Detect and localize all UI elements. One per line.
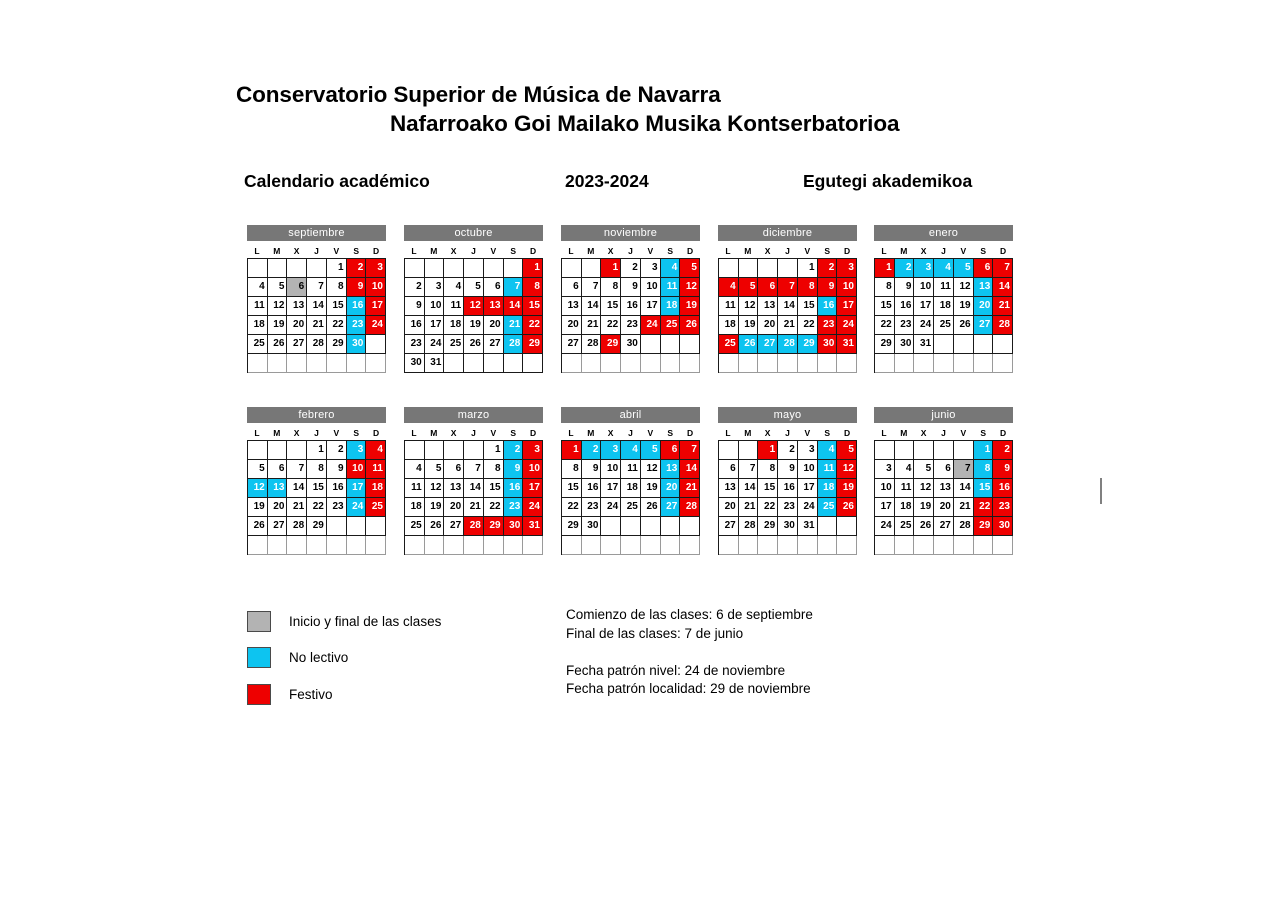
day-cell: 15	[484, 479, 504, 498]
day-cell: 1	[974, 441, 994, 460]
day-cell: 21	[954, 498, 974, 517]
day-cell: 10	[914, 278, 934, 297]
day-cell: 10	[347, 460, 367, 479]
weekday-label-M: M	[738, 426, 758, 440]
weekday-header-row: LMXJVSD	[718, 426, 857, 440]
empty-cell	[895, 536, 915, 555]
day-cell: 21	[739, 498, 759, 517]
empty-cell	[778, 354, 798, 373]
day-cell: 22	[798, 316, 818, 335]
empty-cell	[641, 354, 661, 373]
day-cell: 25	[934, 316, 954, 335]
day-cell: 20	[974, 297, 994, 316]
legend: Inicio y final de las clasesNo lectivoFe…	[247, 603, 577, 713]
day-cell: 30	[778, 517, 798, 536]
day-cell: 2	[504, 441, 524, 460]
empty-cell	[601, 354, 621, 373]
day-cell: 10	[798, 460, 818, 479]
weekday-label-J: J	[621, 426, 641, 440]
day-cell: 11	[661, 278, 681, 297]
empty-cell	[641, 517, 661, 536]
weekday-header-row: LMXJVSD	[404, 426, 543, 440]
day-cell: 1	[523, 259, 543, 278]
weekday-label-V: V	[797, 426, 817, 440]
day-cell: 8	[974, 460, 994, 479]
weekday-label-M: M	[581, 244, 601, 258]
day-cell: 21	[504, 316, 524, 335]
empty-cell	[621, 517, 641, 536]
legend-label-non_teaching: No lectivo	[289, 650, 348, 665]
empty-cell	[739, 259, 759, 278]
day-cell: 8	[875, 278, 895, 297]
day-cell: 22	[974, 498, 994, 517]
weekday-label-M: M	[738, 244, 758, 258]
empty-cell	[366, 335, 386, 354]
day-cell: 25	[895, 517, 915, 536]
empty-cell	[327, 517, 347, 536]
empty-cell	[758, 259, 778, 278]
month-calendar-septiembre: septiembreLMXJVSD12345678910111213141516…	[247, 225, 386, 373]
day-cell: 9	[778, 460, 798, 479]
day-cell: 24	[837, 316, 857, 335]
day-cell: 16	[993, 479, 1013, 498]
day-cell: 11	[621, 460, 641, 479]
day-cell: 3	[641, 259, 661, 278]
weekday-label-J: J	[464, 244, 484, 258]
day-cell: 11	[405, 479, 425, 498]
weekday-label-S: S	[817, 426, 837, 440]
empty-cell	[405, 259, 425, 278]
day-cell: 13	[287, 297, 307, 316]
day-cell: 19	[914, 498, 934, 517]
day-cell: 21	[680, 479, 700, 498]
day-cell: 8	[327, 278, 347, 297]
day-cell: 25	[719, 335, 739, 354]
day-cell: 24	[523, 498, 543, 517]
day-cell: 25	[621, 498, 641, 517]
day-cell: 28	[993, 316, 1013, 335]
note-patron-level: Fecha patrón nivel: 24 de noviembre	[566, 662, 986, 681]
day-cell: 3	[798, 441, 818, 460]
day-cell: 12	[641, 460, 661, 479]
day-cell: 14	[464, 479, 484, 498]
day-cell: 18	[895, 498, 915, 517]
day-cell: 26	[837, 498, 857, 517]
empty-cell	[484, 259, 504, 278]
day-cell: 13	[268, 479, 288, 498]
day-grid-febrero: 1234567891011121314151617181920212223242…	[247, 440, 386, 555]
day-cell: 6	[444, 460, 464, 479]
weekday-label-D: D	[993, 426, 1013, 440]
empty-cell	[582, 354, 602, 373]
day-cell: 26	[739, 335, 759, 354]
day-cell: 17	[523, 479, 543, 498]
month-calendar-abril: abrilLMXJVSD1234567891011121314151617181…	[561, 407, 700, 555]
weekday-label-D: D	[523, 244, 543, 258]
weekday-header-row: LMXJVSD	[874, 426, 1013, 440]
day-cell: 24	[601, 498, 621, 517]
empty-cell	[582, 259, 602, 278]
weekday-label-L: L	[718, 426, 738, 440]
day-cell: 30	[818, 335, 838, 354]
day-cell: 7	[504, 278, 524, 297]
day-cell: 22	[307, 498, 327, 517]
empty-cell	[444, 354, 464, 373]
day-cell: 20	[268, 498, 288, 517]
day-cell: 29	[875, 335, 895, 354]
day-cell: 21	[307, 316, 327, 335]
empty-cell	[837, 354, 857, 373]
day-cell: 6	[484, 278, 504, 297]
day-cell: 11	[444, 297, 464, 316]
day-cell: 28	[954, 517, 974, 536]
weekday-header-row: LMXJVSD	[561, 426, 700, 440]
day-cell: 13	[484, 297, 504, 316]
empty-cell	[248, 536, 268, 555]
month-calendar-enero: eneroLMXJVSD1234567891011121314151617181…	[874, 225, 1013, 373]
weekday-label-L: L	[561, 426, 581, 440]
day-cell: 4	[818, 441, 838, 460]
weekday-label-J: J	[621, 244, 641, 258]
weekday-label-V: V	[953, 426, 973, 440]
day-cell: 6	[758, 278, 778, 297]
day-cell: 27	[444, 517, 464, 536]
day-cell: 7	[739, 460, 759, 479]
day-cell: 16	[347, 297, 367, 316]
weekday-label-M: M	[894, 426, 914, 440]
day-cell: 3	[875, 460, 895, 479]
day-cell: 15	[798, 297, 818, 316]
day-cell: 23	[778, 498, 798, 517]
empty-cell	[444, 536, 464, 555]
day-cell: 19	[268, 316, 288, 335]
day-grid-diciembre: 1234567891011121314151617181920212223242…	[718, 258, 857, 373]
note-spacer	[566, 643, 986, 662]
empty-cell	[327, 536, 347, 555]
empty-cell	[837, 517, 857, 536]
day-cell: 7	[680, 441, 700, 460]
day-cell: 29	[758, 517, 778, 536]
month-calendar-junio: junioLMXJVSD1234567891011121314151617181…	[874, 407, 1013, 555]
weekday-label-X: X	[758, 244, 778, 258]
day-cell: 22	[758, 498, 778, 517]
day-cell: 12	[739, 297, 759, 316]
month-header-septiembre: septiembre	[247, 225, 386, 241]
day-cell: 21	[778, 316, 798, 335]
day-cell: 12	[248, 479, 268, 498]
empty-cell	[680, 536, 700, 555]
weekday-label-X: X	[287, 426, 307, 440]
weekday-label-V: V	[326, 426, 346, 440]
day-cell: 30	[582, 517, 602, 536]
empty-cell	[798, 354, 818, 373]
day-cell: 3	[425, 278, 445, 297]
day-grid-octubre: 1234567891011121314151617181920212223242…	[404, 258, 543, 373]
day-cell: 4	[621, 441, 641, 460]
day-cell: 11	[719, 297, 739, 316]
day-cell: 1	[307, 441, 327, 460]
empty-cell	[954, 354, 974, 373]
day-cell: 2	[347, 259, 367, 278]
day-cell: 8	[523, 278, 543, 297]
note-patron-locality: Fecha patrón localidad: 29 de noviembre	[566, 680, 986, 699]
day-cell: 2	[993, 441, 1013, 460]
day-cell: 26	[680, 316, 700, 335]
day-cell: 20	[287, 316, 307, 335]
day-cell: 14	[504, 297, 524, 316]
weekday-label-X: X	[914, 244, 934, 258]
month-calendar-mayo: mayoLMXJVSD12345678910111213141516171819…	[718, 407, 857, 555]
day-cell: 4	[719, 278, 739, 297]
day-cell: 5	[248, 460, 268, 479]
day-cell: 5	[425, 460, 445, 479]
empty-cell	[798, 536, 818, 555]
day-cell: 14	[680, 460, 700, 479]
weekday-label-M: M	[267, 244, 287, 258]
day-cell: 1	[601, 259, 621, 278]
day-cell: 7	[464, 460, 484, 479]
empty-cell	[680, 354, 700, 373]
weekday-label-J: J	[778, 426, 798, 440]
day-cell: 26	[248, 517, 268, 536]
day-cell: 18	[661, 297, 681, 316]
weekday-header-row: LMXJVSD	[561, 244, 700, 258]
day-cell: 26	[425, 517, 445, 536]
weekday-header-row: LMXJVSD	[247, 426, 386, 440]
day-cell: 10	[523, 460, 543, 479]
day-cell: 6	[719, 460, 739, 479]
empty-cell	[993, 354, 1013, 373]
day-cell: 9	[347, 278, 367, 297]
day-cell: 18	[366, 479, 386, 498]
day-cell: 20	[484, 316, 504, 335]
weekday-label-S: S	[817, 244, 837, 258]
empty-cell	[974, 354, 994, 373]
day-cell: 20	[562, 316, 582, 335]
day-cell: 6	[974, 259, 994, 278]
day-cell: 17	[798, 479, 818, 498]
day-cell: 8	[758, 460, 778, 479]
weekday-label-M: M	[894, 244, 914, 258]
day-cell: 23	[818, 316, 838, 335]
day-cell: 9	[405, 297, 425, 316]
weekday-header-row: LMXJVSD	[874, 244, 1013, 258]
legend-swatch-non_teaching	[247, 647, 271, 668]
empty-cell	[287, 259, 307, 278]
day-cell: 14	[307, 297, 327, 316]
day-cell: 16	[405, 316, 425, 335]
day-cell: 11	[818, 460, 838, 479]
day-cell: 9	[582, 460, 602, 479]
empty-cell	[739, 441, 759, 460]
empty-cell	[895, 354, 915, 373]
day-cell: 14	[778, 297, 798, 316]
day-cell: 11	[895, 479, 915, 498]
empty-cell	[464, 536, 484, 555]
empty-cell	[327, 354, 347, 373]
day-cell: 6	[661, 441, 681, 460]
day-cell: 27	[661, 498, 681, 517]
empty-cell	[287, 441, 307, 460]
weekday-label-S: S	[660, 244, 680, 258]
weekday-label-V: V	[326, 244, 346, 258]
day-cell: 27	[562, 335, 582, 354]
day-cell: 26	[914, 517, 934, 536]
legend-item-non_teaching: No lectivo	[247, 640, 577, 677]
day-cell: 12	[680, 278, 700, 297]
legend-label-boundary: Inicio y final de las clases	[289, 614, 441, 629]
empty-cell	[719, 441, 739, 460]
day-cell: 1	[798, 259, 818, 278]
month-calendar-febrero: febreroLMXJVSD12345678910111213141516171…	[247, 407, 386, 555]
day-cell: 25	[818, 498, 838, 517]
empty-cell	[347, 517, 367, 536]
month-header-marzo: marzo	[404, 407, 543, 423]
day-cell: 4	[661, 259, 681, 278]
day-cell: 25	[444, 335, 464, 354]
day-cell: 24	[425, 335, 445, 354]
empty-cell	[954, 536, 974, 555]
day-cell: 9	[993, 460, 1013, 479]
day-cell: 17	[425, 316, 445, 335]
day-cell: 18	[719, 316, 739, 335]
day-cell: 5	[268, 278, 288, 297]
day-cell: 14	[582, 297, 602, 316]
weekday-label-D: D	[680, 426, 700, 440]
day-cell: 30	[993, 517, 1013, 536]
weekday-header-row: LMXJVSD	[247, 244, 386, 258]
empty-cell	[268, 259, 288, 278]
legend-swatch-holiday	[247, 684, 271, 705]
day-cell: 31	[425, 354, 445, 373]
key-dates-notes: Comienzo de las clases: 6 de septiembre …	[566, 606, 986, 699]
empty-cell	[523, 536, 543, 555]
weekday-label-V: V	[953, 244, 973, 258]
empty-cell	[366, 354, 386, 373]
weekday-label-S: S	[346, 244, 366, 258]
weekday-label-X: X	[444, 426, 464, 440]
day-cell: 16	[621, 297, 641, 316]
day-cell: 22	[327, 316, 347, 335]
empty-cell	[307, 536, 327, 555]
month-header-mayo: mayo	[718, 407, 857, 423]
day-cell: 14	[993, 278, 1013, 297]
day-cell: 20	[444, 498, 464, 517]
day-cell: 16	[895, 297, 915, 316]
empty-cell	[444, 441, 464, 460]
empty-cell	[739, 354, 759, 373]
weekday-label-S: S	[973, 426, 993, 440]
day-cell: 24	[914, 316, 934, 335]
day-cell: 13	[758, 297, 778, 316]
weekday-label-D: D	[837, 244, 857, 258]
empty-cell	[248, 441, 268, 460]
empty-cell	[425, 536, 445, 555]
day-cell: 16	[818, 297, 838, 316]
weekday-label-X: X	[758, 426, 778, 440]
day-cell: 5	[680, 259, 700, 278]
day-cell: 29	[601, 335, 621, 354]
weekday-label-S: S	[660, 426, 680, 440]
day-cell: 12	[464, 297, 484, 316]
day-cell: 17	[347, 479, 367, 498]
day-cell: 22	[523, 316, 543, 335]
day-cell: 30	[504, 517, 524, 536]
day-cell: 22	[601, 316, 621, 335]
empty-cell	[562, 536, 582, 555]
day-cell: 10	[601, 460, 621, 479]
empty-cell	[347, 536, 367, 555]
weekday-label-J: J	[464, 426, 484, 440]
day-cell: 5	[739, 278, 759, 297]
day-cell: 12	[914, 479, 934, 498]
day-cell: 29	[484, 517, 504, 536]
day-cell: 17	[837, 297, 857, 316]
day-cell: 5	[914, 460, 934, 479]
day-cell: 3	[837, 259, 857, 278]
empty-cell	[307, 259, 327, 278]
day-cell: 17	[914, 297, 934, 316]
weekday-label-M: M	[424, 426, 444, 440]
weekday-label-S: S	[973, 244, 993, 258]
empty-cell	[818, 517, 838, 536]
empty-cell	[875, 536, 895, 555]
weekday-header-row: LMXJVSD	[718, 244, 857, 258]
day-grid-noviembre: 1234567891011121314151617181920212223242…	[561, 258, 700, 373]
day-cell: 26	[954, 316, 974, 335]
day-cell: 24	[875, 517, 895, 536]
empty-cell	[287, 536, 307, 555]
weekday-label-J: J	[934, 244, 954, 258]
day-cell: 1	[562, 441, 582, 460]
legend-item-holiday: Festivo	[247, 676, 577, 713]
day-cell: 15	[562, 479, 582, 498]
day-cell: 15	[523, 297, 543, 316]
day-cell: 29	[798, 335, 818, 354]
day-cell: 19	[464, 316, 484, 335]
day-cell: 9	[895, 278, 915, 297]
empty-cell	[425, 259, 445, 278]
empty-cell	[837, 536, 857, 555]
day-cell: 25	[366, 498, 386, 517]
day-cell: 12	[425, 479, 445, 498]
weekday-label-D: D	[366, 426, 386, 440]
day-cell: 11	[248, 297, 268, 316]
day-cell: 31	[837, 335, 857, 354]
empty-cell	[875, 441, 895, 460]
empty-cell	[914, 354, 934, 373]
day-cell: 21	[464, 498, 484, 517]
day-cell: 15	[307, 479, 327, 498]
day-cell: 13	[661, 460, 681, 479]
weekday-label-V: V	[483, 426, 503, 440]
empty-cell	[934, 441, 954, 460]
weekday-label-L: L	[718, 244, 738, 258]
day-cell: 28	[307, 335, 327, 354]
day-cell: 27	[934, 517, 954, 536]
empty-cell	[366, 536, 386, 555]
day-cell: 8	[601, 278, 621, 297]
day-cell: 30	[621, 335, 641, 354]
empty-cell	[934, 536, 954, 555]
empty-cell	[778, 536, 798, 555]
empty-cell	[464, 259, 484, 278]
day-cell: 21	[993, 297, 1013, 316]
day-grid-septiembre: 1234567891011121314151617181920212223242…	[247, 258, 386, 373]
day-cell: 8	[307, 460, 327, 479]
day-cell: 13	[444, 479, 464, 498]
weekday-label-M: M	[581, 426, 601, 440]
